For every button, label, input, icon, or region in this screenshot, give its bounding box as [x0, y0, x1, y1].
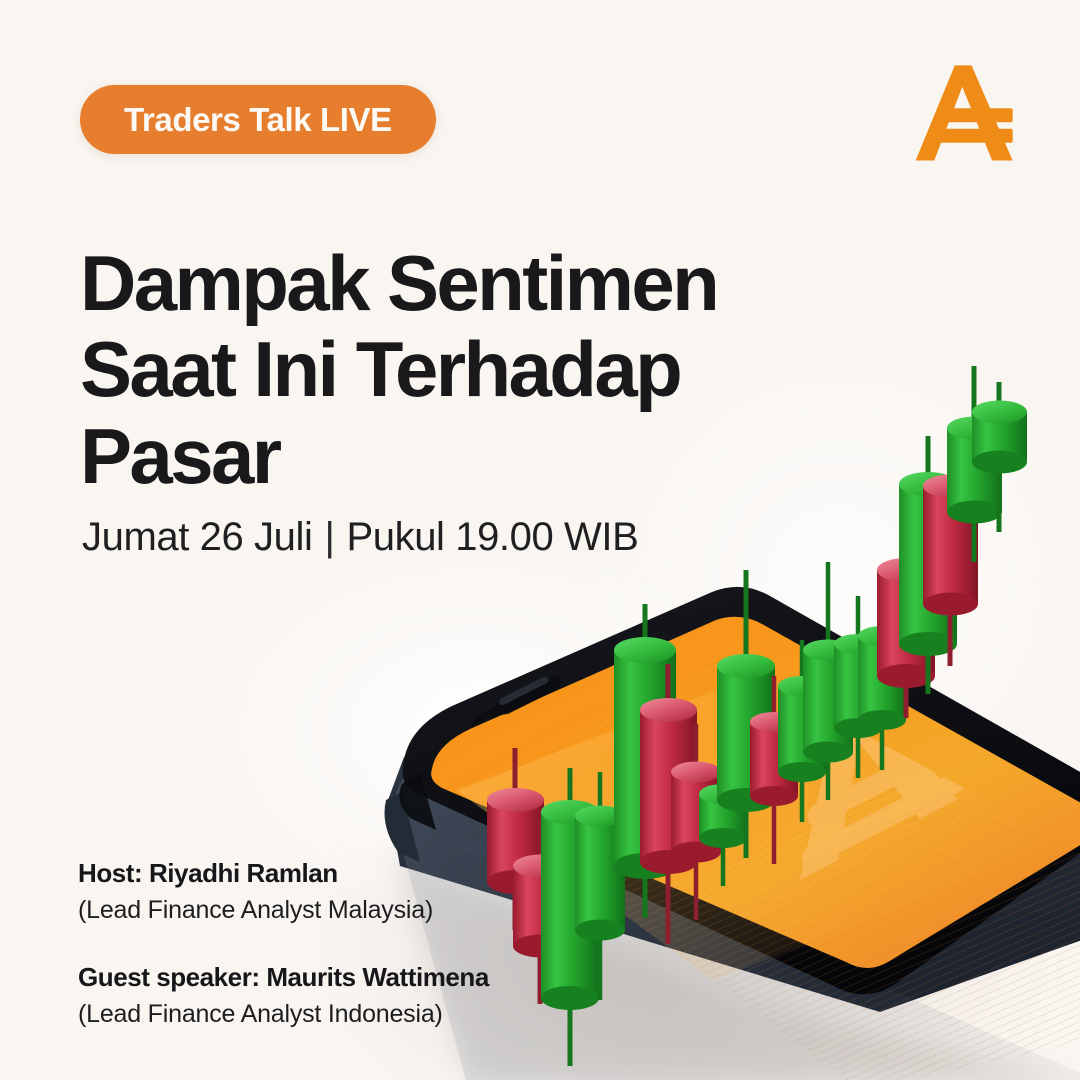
screen-watermark-a-icon [774, 651, 988, 880]
headline-line-1: Dampak Sentimen [80, 240, 840, 326]
page-title: Dampak Sentimen Saat Ini Terhadap Pasar [80, 240, 840, 499]
guest-name: Guest speaker: Maurits Wattimena [78, 961, 638, 995]
headline-line-2: Saat Ini Terhadap [80, 326, 840, 412]
candle-17-bearish [923, 430, 978, 666]
candle-15-bearish [877, 524, 935, 718]
event-date: Jumat 26 Juli [82, 515, 312, 559]
candle-8-bullish [699, 752, 747, 886]
axi-letter-a-logo-icon [910, 56, 1022, 168]
poster-canvas: Traders Talk LIVE Dampak Sentimen Saat I… [0, 0, 1080, 1080]
candle-18-bullish [947, 366, 1002, 562]
candle-14-bullish [858, 590, 906, 770]
guest-role: (Lead Finance Analyst Indonesia) [78, 998, 638, 1032]
candle-11-bullish [778, 640, 826, 822]
event-time: Pukul 19.00 WIB [346, 515, 638, 559]
candle-12-bullish [803, 562, 853, 800]
guest-credit: Guest speaker: Maurits Wattimena (Lead F… [78, 961, 638, 1032]
candle-19-bullish [972, 382, 1027, 532]
candle-10-bearish [750, 676, 798, 864]
host-role: (Lead Finance Analyst Malaysia) [78, 894, 638, 928]
headline-line-3: Pasar [80, 413, 840, 499]
live-badge[interactable]: Traders Talk LIVE [80, 85, 436, 154]
candle-13-bullish [834, 596, 882, 778]
datetime-separator: | [324, 513, 334, 561]
event-datetime: Jumat 26 Juli|Pukul 19.00 WIB [82, 513, 638, 561]
candle-7-bearish [671, 724, 721, 920]
live-badge-label: Traders Talk LIVE [124, 103, 392, 136]
candle-9-bullish [717, 570, 775, 858]
candle-6-bearish [640, 664, 697, 944]
host-credit: Host: Riyadhi Ramlan (Lead Finance Analy… [78, 857, 638, 928]
candle-16-bullish [899, 436, 957, 694]
host-name: Host: Riyadhi Ramlan [78, 857, 638, 891]
speaker-credits: Host: Riyadhi Ramlan (Lead Finance Analy… [78, 857, 638, 1032]
